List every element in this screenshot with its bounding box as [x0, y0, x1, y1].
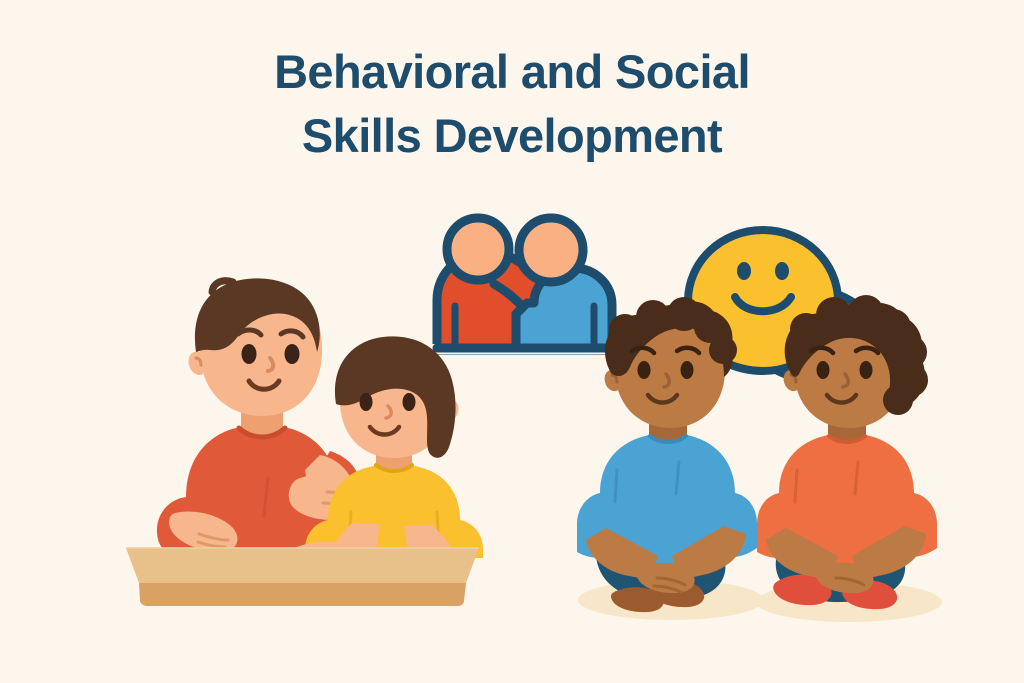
orange-child-eye-right [860, 361, 873, 379]
blue-child-eye-left [638, 361, 651, 379]
orange-child-eye-left [817, 361, 830, 379]
boy-eye-right [285, 344, 300, 364]
boy-eye-left [242, 344, 257, 364]
smiley-eye-right [775, 262, 789, 280]
illustration-artwork [0, 0, 1024, 683]
smiley-eye-left [737, 262, 751, 280]
blue-child-eye-right [681, 361, 694, 379]
girl-eye-right [403, 393, 416, 411]
girl-eye-left [360, 393, 373, 411]
wooden-table [126, 548, 479, 606]
poster-canvas: Behavioral and Social Skills Development [0, 0, 1024, 683]
